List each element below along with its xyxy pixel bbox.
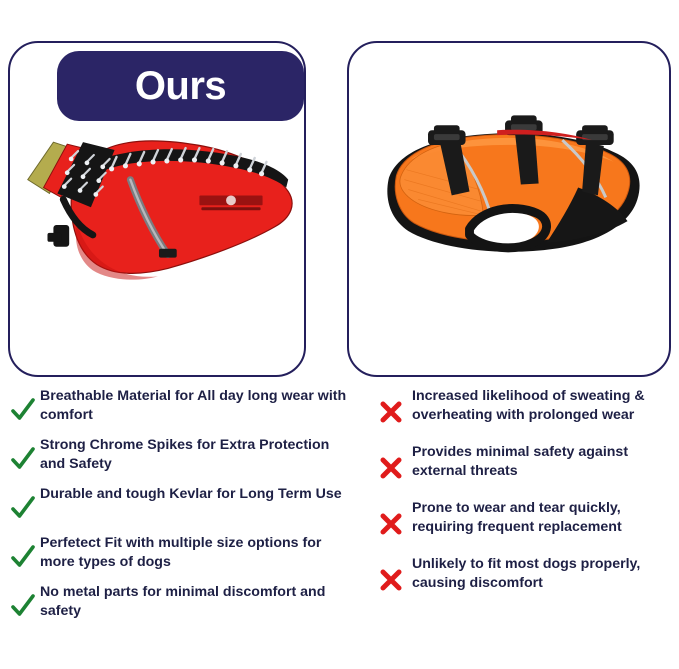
pros-list: Breathable Material for All day long wea…	[6, 386, 354, 631]
check-icon	[6, 588, 40, 624]
cons-list: Increased likelihood of sweating & overh…	[374, 386, 674, 610]
comparison-infographic: Ours	[0, 0, 679, 669]
list-item: Durable and tough Kevlar for Long Term U…	[6, 484, 354, 526]
cross-icon	[374, 506, 408, 542]
product-card-ours: Ours	[8, 41, 306, 377]
list-item: Unlikely to fit most dogs properly, caus…	[374, 554, 674, 598]
list-item: Breathable Material for All day long wea…	[6, 386, 354, 428]
feature-text: Breathable Material for All day long wea…	[40, 386, 354, 424]
cross-icon	[374, 450, 408, 486]
feature-text: No metal parts for minimal discomfort an…	[40, 582, 354, 620]
list-item: No metal parts for minimal discomfort an…	[6, 582, 354, 624]
list-item: Prone to wear and tear quickly, requirin…	[374, 498, 674, 542]
list-item: Increased likelihood of sweating & overh…	[374, 386, 674, 430]
cross-icon	[374, 562, 408, 598]
check-icon	[6, 490, 40, 526]
feature-lists: Breathable Material for All day long wea…	[0, 386, 679, 669]
check-icon	[6, 392, 40, 428]
ours-product-image	[10, 83, 304, 373]
check-icon	[6, 441, 40, 477]
check-icon	[6, 539, 40, 575]
feature-text: Strong Chrome Spikes for Extra Protectio…	[40, 435, 354, 473]
cross-icon	[374, 394, 408, 430]
feature-text: Unlikely to fit most dogs properly, caus…	[412, 554, 674, 592]
feature-text: Provides minimal safety against external…	[412, 442, 674, 480]
others-product-image	[349, 83, 669, 373]
ours-header-pill: Ours	[57, 51, 304, 121]
ours-header-title: Ours	[135, 66, 226, 106]
feature-text: Perfetect Fit with multiple size options…	[40, 533, 354, 571]
product-cards: Ours	[0, 0, 679, 385]
feature-text: Prone to wear and tear quickly, requirin…	[412, 498, 674, 536]
feature-text: Increased likelihood of sweating & overh…	[412, 386, 674, 424]
feature-text: Durable and tough Kevlar for Long Term U…	[40, 484, 342, 504]
list-item: Perfetect Fit with multiple size options…	[6, 533, 354, 575]
product-card-others: Others	[347, 41, 671, 377]
list-item: Strong Chrome Spikes for Extra Protectio…	[6, 435, 354, 477]
list-item: Provides minimal safety against external…	[374, 442, 674, 486]
